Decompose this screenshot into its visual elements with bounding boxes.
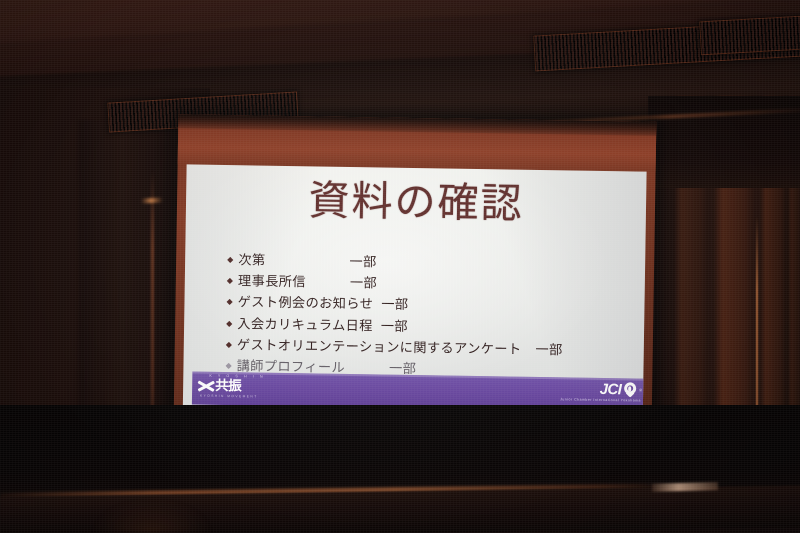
jci-wordmark: JCI xyxy=(600,382,622,397)
list-item-label: 入会カリキュラム日程 xyxy=(237,315,373,335)
diamond-bullet-icon: ◆ xyxy=(226,341,232,349)
projection-screen: 資料の確認 ◆ 次第 一部 ◆ 理事長所信 一部 ◆ ゲスト例会のお知らせ 一部 xyxy=(174,114,657,427)
list-item-label: ゲスト例会のお知らせ xyxy=(237,294,373,314)
kyoshin-logo: K Y O S H I N 共振 KYOSHIN MOVEMENT xyxy=(198,375,276,403)
list-item: ◆ ゲスト例会のお知らせ 一部 xyxy=(226,293,630,318)
diamond-bullet-icon: ◆ xyxy=(226,298,232,306)
diamond-bullet-icon: ◆ xyxy=(227,277,233,285)
jci-logo-main: JCI ® xyxy=(600,382,643,398)
kyoshin-logo-bottom-text: KYOSHIN MOVEMENT xyxy=(200,395,276,399)
list-item-quantity: 一部 xyxy=(349,253,376,272)
diamond-bullet-icon: ◆ xyxy=(225,362,231,370)
vent-frame xyxy=(699,15,800,56)
air-vent-icon xyxy=(699,15,800,56)
list-item-quantity: 一部 xyxy=(535,341,562,360)
list-item: ◆ 次第 一部 xyxy=(227,251,631,276)
list-item-quantity: 一部 xyxy=(350,274,377,293)
jci-logo: JCI ® Junior Chamber International Yokoh… xyxy=(560,381,642,403)
presentation-slide: 資料の確認 ◆ 次第 一部 ◆ 理事長所信 一部 ◆ ゲスト例会のお知らせ 一部 xyxy=(183,164,647,419)
jci-shield-icon xyxy=(624,382,636,397)
chair-silhouette xyxy=(92,499,212,533)
paper-on-table xyxy=(652,482,718,492)
kyoshin-x-mark-icon xyxy=(198,379,214,392)
slide-title: 資料の確認 xyxy=(186,178,647,226)
list-item-label: 次第 xyxy=(238,251,265,270)
diamond-bullet-icon: ◆ xyxy=(227,256,233,264)
list-item: ◆ 理事長所信 一部 xyxy=(227,272,631,297)
jci-logo-subtitle: Junior Chamber International Yokohama xyxy=(560,398,641,403)
list-item-label: 理事長所信 xyxy=(238,272,306,291)
diamond-bullet-icon: ◆ xyxy=(226,320,232,328)
kyoshin-logo-kanji: 共振 xyxy=(215,379,241,393)
list-item: ◆ 入会カリキュラム日程 一部 xyxy=(226,315,630,340)
list-item-quantity: 一部 xyxy=(381,317,408,336)
photograph-scene: 資料の確認 ◆ 次第 一部 ◆ 理事長所信 一部 ◆ ゲスト例会のお知らせ 一部 xyxy=(0,0,800,533)
list-item: ◆ ゲストオリエンテーションに関するアンケート 一部 xyxy=(226,336,630,361)
kyoshin-logo-main: 共振 xyxy=(198,379,276,394)
list-item-label: ゲストオリエンテーションに関するアンケート xyxy=(237,336,522,359)
list-item-quantity: 一部 xyxy=(381,296,408,315)
jci-registered-mark: ® xyxy=(639,388,642,393)
